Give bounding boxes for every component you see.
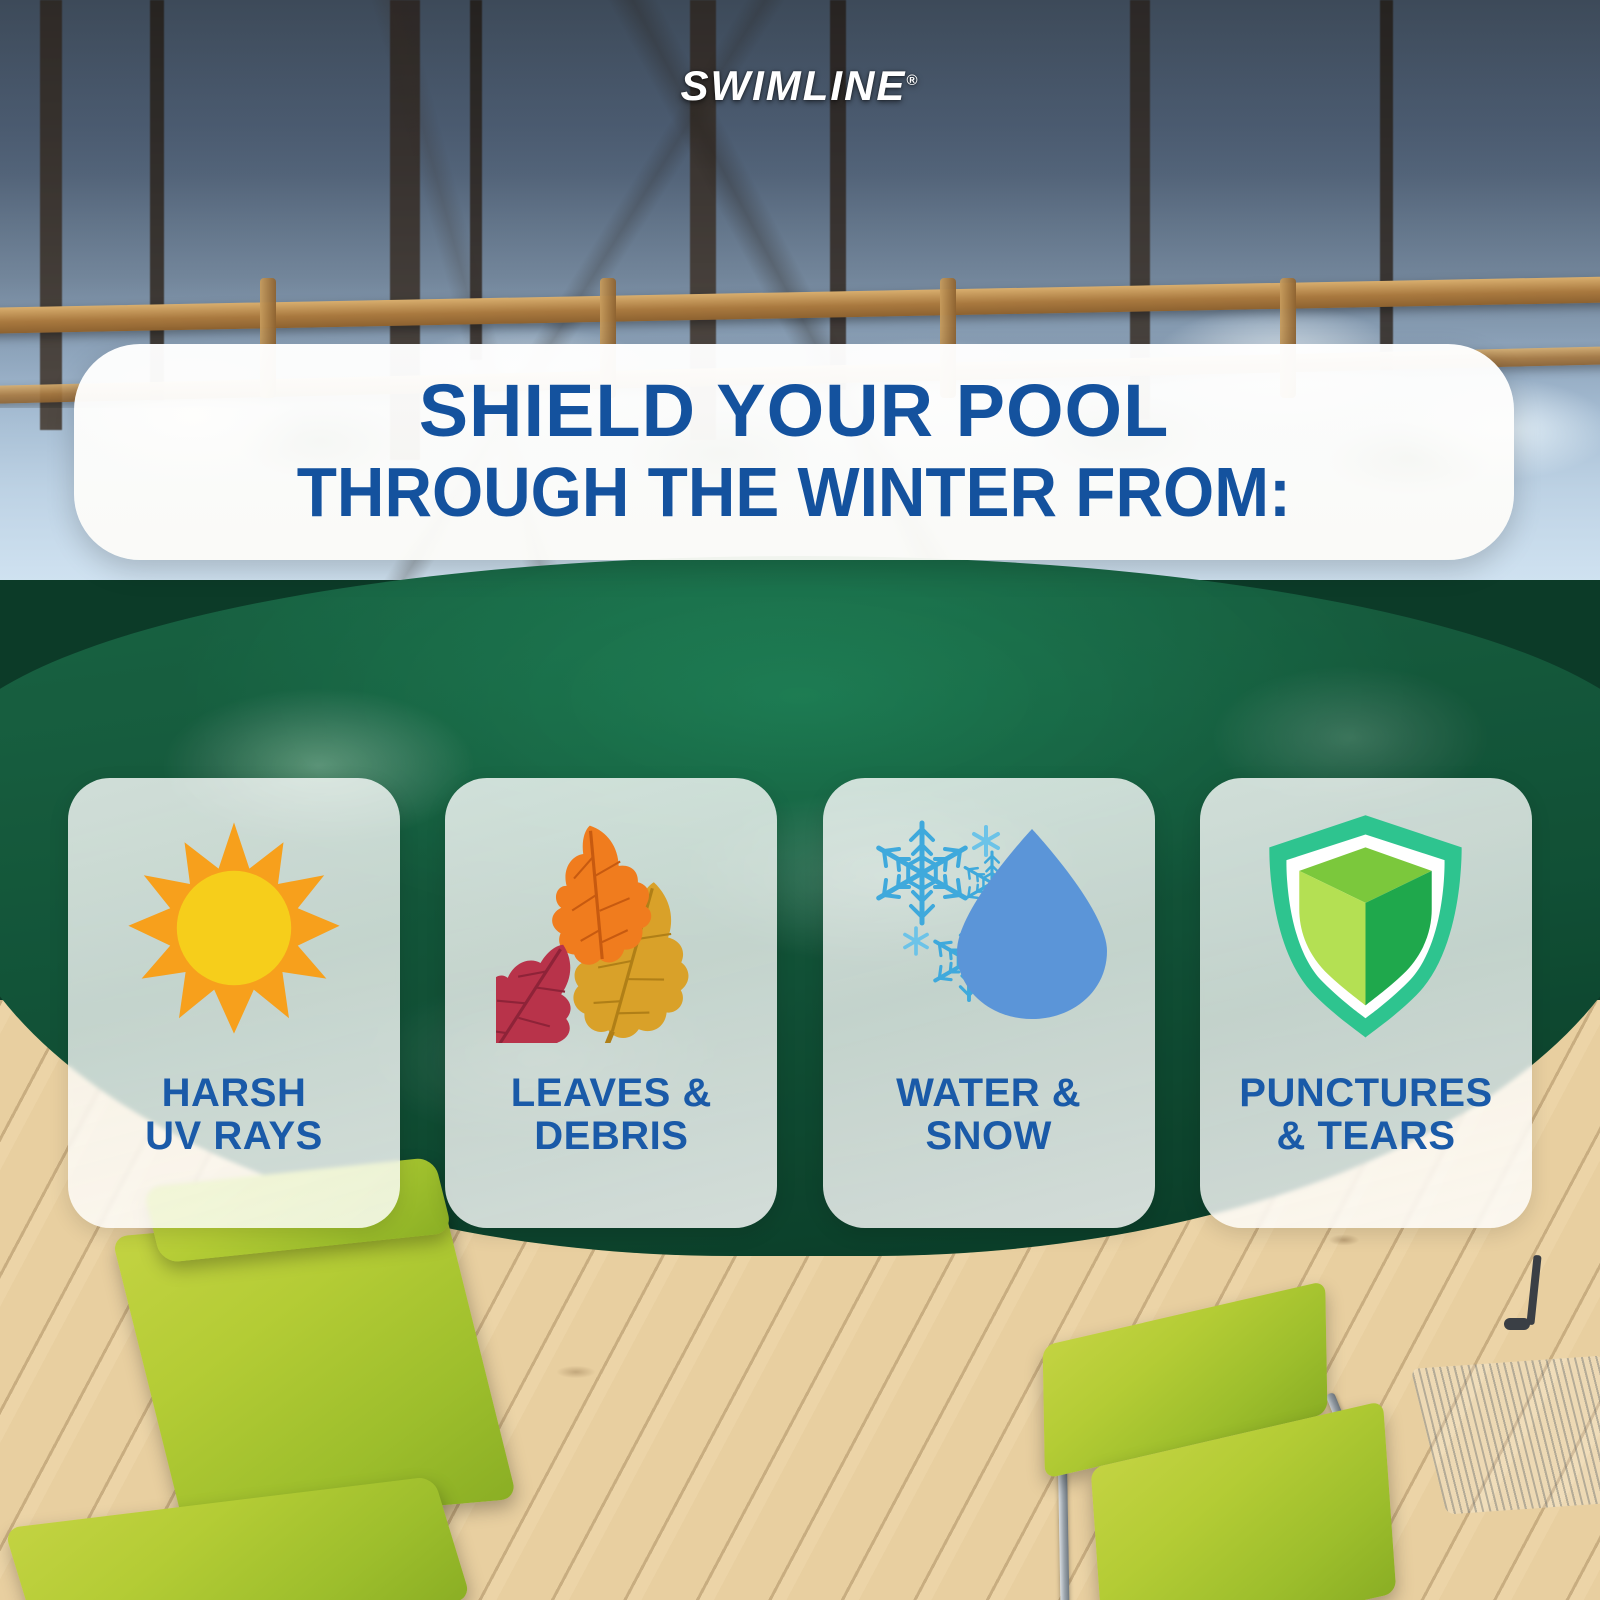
feature-card-label: LEAVES & DEBRIS (511, 1072, 712, 1158)
headline-line-2: THROUGH THE WINTER FROM: (297, 456, 1291, 530)
sun-icon (68, 778, 400, 1078)
shield-cube-icon (1200, 778, 1532, 1078)
feature-card-water-snow[interactable]: WATER & SNOW (823, 778, 1155, 1228)
autumn-leaves-icon (445, 778, 777, 1078)
feature-card-punctures-tears[interactable]: PUNCTURES & TEARS (1200, 778, 1532, 1228)
snowflake-large (878, 823, 965, 923)
snowflake-waterdrop-icon (823, 778, 1155, 1078)
feature-card-label: PUNCTURES & TEARS (1239, 1072, 1492, 1158)
sun-core (177, 871, 291, 985)
snowflake-mini-top (974, 827, 998, 855)
chair-foot (1504, 1318, 1530, 1330)
promo-image: SWIMLINE® SHIELD YOUR POOL THROUGH THE W… (0, 0, 1600, 1600)
feature-card-harsh-uv-rays[interactable]: HARSH UV RAYS (68, 778, 400, 1228)
headline-banner: SHIELD YOUR POOL THROUGH THE WINTER FROM… (74, 344, 1514, 560)
water-drop (957, 829, 1107, 1019)
label-line-1: WATER & (896, 1071, 1081, 1115)
railing-top-bar (0, 276, 1600, 334)
label-line-2: & TEARS (1276, 1114, 1455, 1158)
feature-card-leaves-debris[interactable]: LEAVES & DEBRIS (445, 778, 777, 1228)
feature-card-label: HARSH UV RAYS (145, 1072, 323, 1158)
label-line-1: LEAVES & (511, 1071, 712, 1115)
label-line-2: UV RAYS (145, 1114, 323, 1158)
feature-card-label: WATER & SNOW (896, 1072, 1081, 1158)
label-line-2: SNOW (925, 1114, 1051, 1158)
label-line-1: PUNCTURES (1239, 1071, 1492, 1115)
headline-line-1: SHIELD YOUR POOL (419, 374, 1170, 448)
lounger-leg (1058, 1466, 1070, 1600)
label-line-2: DEBRIS (534, 1114, 688, 1158)
label-line-1: HARSH (162, 1071, 307, 1115)
feature-card-row: HARSH UV RAYS (68, 778, 1532, 1228)
snowflake-mini-left (905, 928, 927, 954)
